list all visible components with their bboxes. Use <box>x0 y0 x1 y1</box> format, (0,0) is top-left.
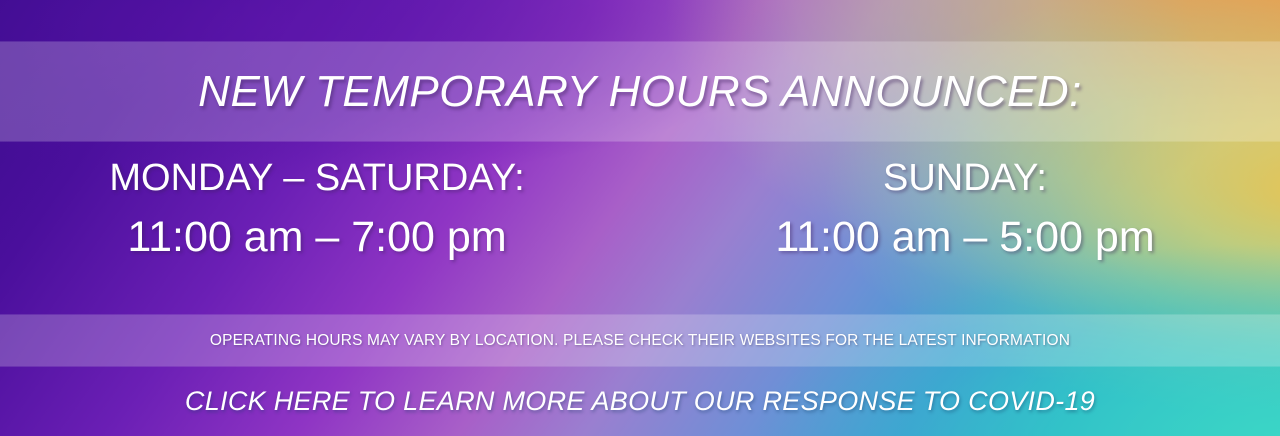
covid-response-link[interactable]: CLICK HERE TO LEARN MORE ABOUT OUR RESPO… <box>185 386 1095 417</box>
weekday-day-label: MONDAY – SATURDAY: <box>0 150 640 206</box>
hours-column-weekday: MONDAY – SATURDAY: 11:00 am – 7:00 pm <box>0 150 640 268</box>
hours-disclaimer-text: OPERATING HOURS MAY VARY BY LOCATION. PL… <box>210 332 1070 350</box>
sunday-time-label: 11:00 am – 5:00 pm <box>640 206 1280 268</box>
weekday-time-label: 11:00 am – 7:00 pm <box>0 206 640 268</box>
disclaimer-row: OPERATING HOURS MAY VARY BY LOCATION. PL… <box>0 315 1280 366</box>
hours-column-sunday: SUNDAY: 11:00 am – 5:00 pm <box>640 150 1280 268</box>
headline-row: NEW TEMPORARY HOURS ANNOUNCED: <box>0 42 1280 141</box>
sunday-day-label: SUNDAY: <box>640 150 1280 206</box>
hours-row: MONDAY – SATURDAY: 11:00 am – 7:00 pm SU… <box>0 150 1280 300</box>
cta-row: CLICK HERE TO LEARN MORE ABOUT OUR RESPO… <box>0 372 1280 430</box>
temporary-hours-banner: NEW TEMPORARY HOURS ANNOUNCED: MONDAY – … <box>0 0 1280 436</box>
banner-content: NEW TEMPORARY HOURS ANNOUNCED: MONDAY – … <box>0 0 1280 436</box>
banner-headline: NEW TEMPORARY HOURS ANNOUNCED: <box>198 67 1082 117</box>
